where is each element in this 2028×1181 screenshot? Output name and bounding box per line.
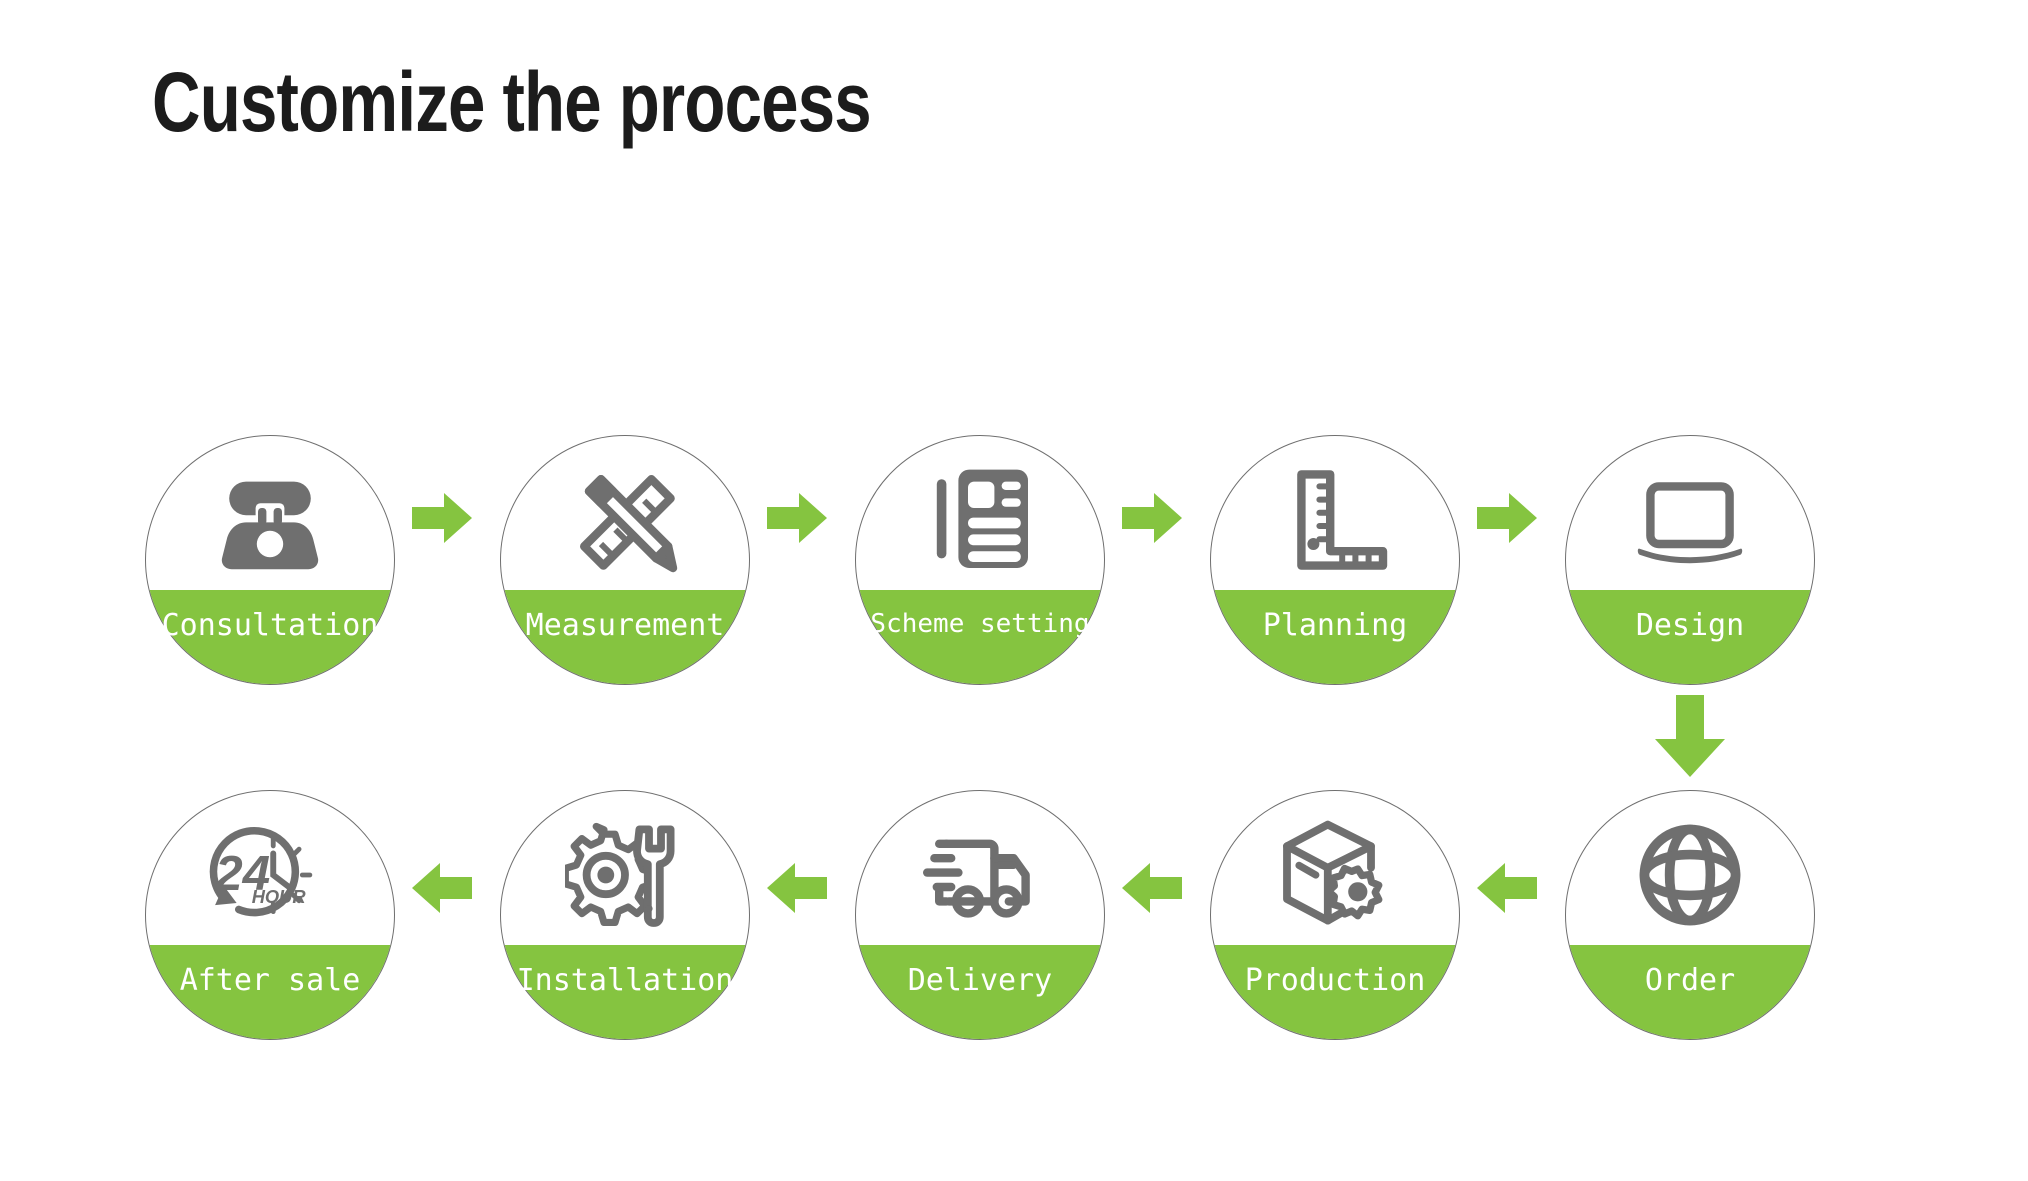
- step-circle: [500, 790, 750, 1040]
- arrow-left-8: [767, 860, 827, 916]
- process-step-design[interactable]: Design: [1565, 435, 1815, 685]
- step-label: Installation: [500, 966, 750, 996]
- process-step-delivery[interactable]: Delivery: [855, 790, 1105, 1040]
- arrow-left-9: [412, 860, 472, 916]
- step-label: Production: [1210, 966, 1460, 996]
- arrow-left-6: [1477, 860, 1537, 916]
- step-label: Design: [1565, 611, 1815, 641]
- arrow-right-1: [412, 490, 472, 546]
- process-step-consultation[interactable]: Consultation: [145, 435, 395, 685]
- step-circle: [1565, 435, 1815, 685]
- step-circle: [855, 435, 1105, 685]
- process-step-installation[interactable]: Installation: [500, 790, 750, 1040]
- step-label: Planning: [1210, 611, 1460, 641]
- step-label: Consultation: [145, 611, 395, 641]
- process-step-production[interactable]: Production: [1210, 790, 1460, 1040]
- arrow-right-3: [1122, 490, 1182, 546]
- arrow-down-5: [1655, 695, 1725, 777]
- step-label: Order: [1565, 966, 1815, 996]
- arrow-right-4: [1477, 490, 1537, 546]
- process-step-planning[interactable]: Planning: [1210, 435, 1460, 685]
- process-step-measurement[interactable]: Measurement: [500, 435, 750, 685]
- step-label: After sale: [145, 966, 395, 996]
- step-label: Scheme setting: [855, 611, 1105, 637]
- step-circle: [1210, 435, 1460, 685]
- step-circle: [145, 790, 395, 1040]
- step-circle: [1210, 790, 1460, 1040]
- step-label: Measurement: [500, 611, 750, 641]
- process-step-order[interactable]: Order: [1565, 790, 1815, 1040]
- step-circle: [855, 790, 1105, 1040]
- process-step-scheme-setting[interactable]: Scheme setting: [855, 435, 1105, 685]
- step-circle: [500, 435, 750, 685]
- step-circle: [1565, 790, 1815, 1040]
- arrow-left-7: [1122, 860, 1182, 916]
- step-label: Delivery: [855, 966, 1105, 996]
- arrow-right-2: [767, 490, 827, 546]
- step-circle: [145, 435, 395, 685]
- process-step-after-sale[interactable]: 24 HOUR After sale: [145, 790, 395, 1040]
- process-flow-diagram: Consultation Measurement: [0, 0, 2028, 1181]
